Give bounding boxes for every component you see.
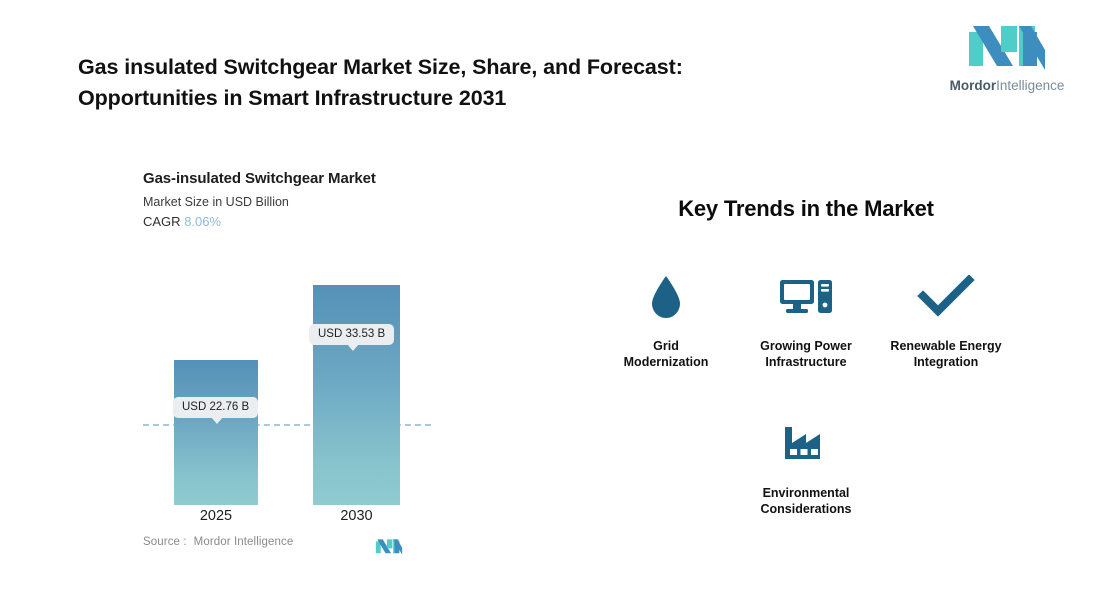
trend-label-line-1: Renewable Energy xyxy=(890,339,1001,353)
market-size-chart: Gas-insulated Switchgear Market Market S… xyxy=(143,170,443,560)
trend-environmental-considerations: Environmental Considerations xyxy=(736,418,876,517)
trend-label-line-2: Considerations xyxy=(761,502,852,516)
key-trends-row-1: Grid Modernization xyxy=(596,271,1016,370)
trend-growing-power-infrastructure: Growing Power Infrastructure xyxy=(736,271,876,370)
source-name: Mordor Intelligence xyxy=(194,536,294,548)
x-tick-2025: 2025 xyxy=(174,508,258,524)
brand-name-bold: Mordor xyxy=(950,78,997,93)
brand-wordmark: MordorIntelligence xyxy=(948,78,1066,94)
brand-name-light: Intelligence xyxy=(996,78,1064,93)
brand-logo: MordorIntelligence xyxy=(948,22,1066,94)
trend-label-line-2: Infrastructure xyxy=(765,355,846,369)
trend-label-line-1: Grid xyxy=(653,339,679,353)
bar-2030 xyxy=(313,285,400,505)
cagr-label: CAGR xyxy=(143,214,181,229)
trend-label-line-1: Environmental xyxy=(763,486,850,500)
source-label: Source : xyxy=(143,536,187,548)
chart-source: Source : Mordor Intelligence xyxy=(143,536,431,548)
source-mordor-logo-icon xyxy=(375,538,403,556)
trend-label-line-1: Growing Power xyxy=(760,339,852,353)
factory-icon xyxy=(781,418,831,470)
checkmark-icon xyxy=(917,271,975,323)
trend-label-line-2: Integration xyxy=(914,355,979,369)
key-trends-heading: Key Trends in the Market xyxy=(596,196,1016,222)
chart-x-axis-labels: 2025 2030 xyxy=(143,508,431,530)
key-trends-section: Key Trends in the Market Grid Modernizat… xyxy=(596,196,1016,222)
x-tick-2030: 2030 xyxy=(313,508,400,524)
trend-label: Environmental Considerations xyxy=(744,485,869,517)
bar-value-label-2030: USD 33.53 B xyxy=(309,324,394,345)
page-title-line-1: Gas insulated Switchgear Market Size, Sh… xyxy=(78,52,838,83)
trend-renewable-energy-integration: Renewable Energy Integration xyxy=(876,271,1016,370)
chart-subtitle: Market Size in USD Billion xyxy=(143,195,443,209)
trend-label: Renewable Energy Integration xyxy=(884,338,1009,370)
chart-plot-area: USD 22.76 B USD 33.53 B xyxy=(143,245,443,505)
trend-grid-modernization: Grid Modernization xyxy=(596,271,736,370)
mordor-m-logo-icon xyxy=(967,22,1047,74)
key-trends-row-2: Environmental Considerations xyxy=(596,418,1016,517)
water-drop-icon xyxy=(648,271,684,323)
trend-label-line-2: Modernization xyxy=(624,355,709,369)
poster-root: Gas insulated Switchgear Market Size, Sh… xyxy=(0,0,1098,616)
bar-2025 xyxy=(174,360,258,505)
desktop-computer-icon xyxy=(778,271,834,323)
page-title: Gas insulated Switchgear Market Size, Sh… xyxy=(78,52,838,114)
bar-value-label-2025: USD 22.76 B xyxy=(173,397,258,418)
chart-title: Gas-insulated Switchgear Market xyxy=(143,170,443,187)
page-title-line-2: Opportunities in Smart Infrastructure 20… xyxy=(78,83,838,114)
trend-label: Grid Modernization xyxy=(604,338,729,370)
trend-label: Growing Power Infrastructure xyxy=(744,338,869,370)
cagr-value: 8.06% xyxy=(184,214,221,229)
chart-cagr: CAGR 8.06% xyxy=(143,214,443,229)
